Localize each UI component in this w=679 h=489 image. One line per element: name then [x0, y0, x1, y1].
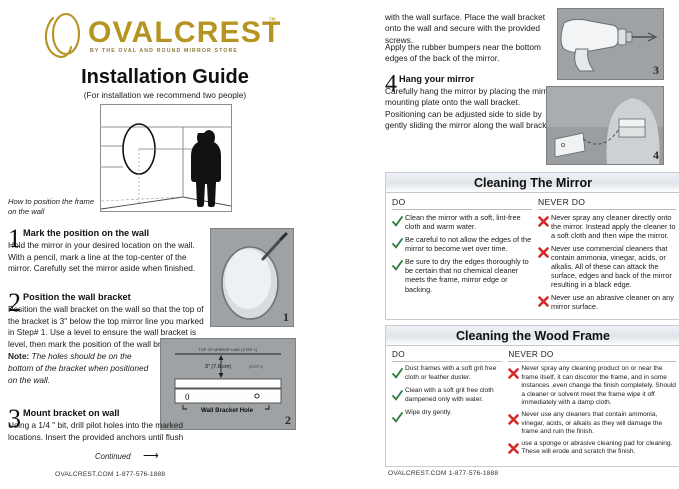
never-item-text: Never use any cleaners that contain ammo…	[521, 411, 676, 437]
cleaning-mirror-do-column: DO Clean the mirror with a soft, lint-fr…	[386, 197, 536, 315]
never-item-text: Never use commercial cleaners that conta…	[551, 244, 676, 290]
do-item-text: Wipe dry gently.	[405, 409, 452, 428]
never-item-text: Never spray any cleaner directly onto th…	[551, 213, 676, 241]
cleaning-frame-header: Cleaning the Wood Frame	[386, 326, 679, 346]
do-item: Dust frames with a soft grit free cloth …	[392, 365, 502, 384]
never-column-divider	[538, 209, 676, 210]
step-1-body: Hold the mirror in your desired location…	[8, 240, 204, 275]
step-3-heading: Mount bracket on wall	[23, 408, 208, 419]
do-item-text: Be careful to not allow the edges of the…	[405, 235, 532, 254]
never-item-text: Never use an abrasive cleaner on any mir…	[551, 293, 676, 312]
never-item: Never use an abrasive cleaner on any mir…	[538, 293, 676, 312]
svg-text:3" (7.6 cm): 3" (7.6 cm)	[205, 364, 231, 370]
panel-2-number: 2	[285, 413, 291, 428]
never-item: Never spray any cleaner directly onto th…	[538, 213, 676, 241]
check-icon	[392, 409, 405, 428]
footer-right: OVALCREST.COM 1-877-576-1888	[388, 470, 498, 477]
svg-text:Wall Bracket Hole: Wall Bracket Hole	[201, 407, 254, 414]
cross-icon	[508, 365, 521, 408]
step-2-number: 2	[8, 290, 21, 316]
continued-paragraph-2: Apply the rubber bumpers near the bottom…	[385, 42, 560, 65]
logo-wordmark: OVALCREST	[88, 16, 282, 50]
cleaning-mirror-never-column: NEVER DO Never spray any cleaner directl…	[536, 197, 679, 315]
right-column: with the wall surface. Place the wall br…	[385, 0, 679, 489]
never-item: Never use commercial cleaners that conta…	[538, 244, 676, 290]
panel-1-number: 1	[283, 310, 289, 325]
power-drill-icon	[558, 9, 663, 79]
wall-position-diagram	[100, 104, 232, 212]
do-item: Clean the mirror with a soft, lint-free …	[392, 213, 532, 232]
step-4-number: 4	[385, 72, 397, 96]
brand-tagline: BY THE OVAL AND ROUND MIRROR STORE	[90, 48, 238, 54]
left-column: OVALCREST ™ BY THE OVAL AND ROUND MIRROR…	[0, 0, 375, 489]
cross-icon	[538, 244, 551, 290]
page-title: Installation Guide	[0, 66, 330, 89]
check-icon	[392, 213, 405, 232]
step-2-note: Note: The holes should be on the bottom …	[8, 351, 158, 386]
step-2-note-label: Note:	[8, 351, 29, 361]
check-icon	[392, 235, 405, 254]
do-column-divider	[392, 361, 502, 362]
do-item: Clean with a soft grit free cloth dampen…	[392, 387, 502, 406]
cross-icon	[538, 293, 551, 312]
step-4-heading: Hang your mirror	[399, 74, 563, 85]
continued-label: Continued	[95, 452, 131, 461]
do-item-text: Dust frames with a soft grit free cloth …	[405, 365, 502, 384]
brand-logo: OVALCREST ™ BY THE OVAL AND ROUND MIRROR…	[40, 14, 290, 60]
cleaning-frame-never-heading: NEVER DO	[508, 350, 676, 361]
check-icon	[392, 257, 405, 294]
do-item: Be sure to dry the edges thoroughly to b…	[392, 257, 532, 294]
arrow-right-icon: ⟶	[143, 452, 159, 461]
page-subtitle: (For installation we recommend two peopl…	[0, 90, 330, 100]
do-item-text: Clean with a soft grit free cloth dampen…	[405, 387, 502, 406]
do-item: Wipe dry gently.	[392, 409, 502, 428]
room-perspective-illustration	[101, 105, 231, 211]
step-2-heading: Position the wall bracket	[23, 292, 208, 303]
cleaning-frame-columns: DO Dust frames with a soft grit free clo…	[386, 346, 679, 466]
cleaning-mirror-header: Cleaning The Mirror	[386, 173, 679, 193]
svg-text:0: 0	[185, 392, 190, 402]
check-icon	[392, 387, 405, 406]
never-item: use a sponge or abrasive cleaning pad fo…	[508, 440, 676, 459]
step-4-body: Carefully hang the mirror by placing the…	[385, 86, 563, 132]
cleaning-frame-never-column: NEVER DO Never spray any cleaning produc…	[506, 350, 679, 462]
step-1: 1 Mark the position on the wall Hold the…	[8, 228, 204, 275]
never-item-text: Never spray any cleaning product on or n…	[521, 365, 676, 408]
cleaning-mirror-columns: DO Clean the mirror with a soft, lint-fr…	[386, 193, 679, 319]
trademark-symbol: ™	[268, 16, 276, 25]
never-column-divider	[508, 361, 676, 362]
installation-guide-page: OVALCREST ™ BY THE OVAL AND ROUND MIRROR…	[0, 0, 679, 489]
cleaning-mirror-never-heading: NEVER DO	[538, 197, 676, 209]
step-1-number: 1	[8, 226, 21, 252]
cleaning-frame-do-heading: DO	[392, 350, 502, 361]
step-3-body: Using a 1/4 " bit, drill pilot holes int…	[8, 420, 208, 443]
cross-icon	[538, 213, 551, 241]
panel-4-mounting-plate-photo: 4	[546, 86, 664, 165]
never-item: Never use any cleaners that contain ammo…	[508, 411, 676, 437]
panel-3-drill-photo: 3	[557, 8, 664, 80]
cleaning-frame-title: Cleaning the Wood Frame	[456, 329, 610, 343]
oval-mirror-with-pencil-icon	[211, 229, 293, 326]
step-1-heading: Mark the position on the wall	[23, 228, 204, 239]
cross-icon	[508, 411, 521, 437]
step-2-note-text: The holes should be on the bottom of the…	[8, 351, 148, 384]
panel-4-number: 4	[653, 148, 659, 163]
cleaning-frame-card: Cleaning the Wood Frame DO Dust frames w…	[385, 325, 679, 467]
svg-text:TOP OF MIRROR LINE (STEP 1): TOP OF MIRROR LINE (STEP 1)	[199, 348, 258, 352]
cross-icon	[508, 440, 521, 459]
cleaning-frame-do-column: DO Dust frames with a soft grit free clo…	[386, 350, 506, 462]
panel-1-mirror-photo: 1	[210, 228, 294, 327]
do-column-divider	[392, 209, 532, 210]
check-icon	[392, 365, 405, 384]
cleaning-mirror-title: Cleaning The Mirror	[474, 176, 592, 190]
wall-diagram-caption: How to position the frame on the wall	[8, 197, 96, 218]
svg-text:(STEP 2): (STEP 2)	[249, 365, 263, 369]
do-item: Be careful to not allow the edges of the…	[392, 235, 532, 254]
do-item-text: Be sure to dry the edges thoroughly to b…	[405, 257, 532, 294]
mirror-mounting-plate-icon	[547, 87, 663, 164]
cleaning-mirror-card: Cleaning The Mirror DO Clean the mirror …	[385, 172, 679, 320]
never-item-text: use a sponge or abrasive cleaning pad fo…	[521, 440, 676, 459]
step-4: 4 Hang your mirror Carefully hang the mi…	[385, 74, 563, 132]
do-item-text: Clean the mirror with a soft, lint-free …	[405, 213, 532, 232]
cleaning-mirror-do-heading: DO	[392, 197, 532, 209]
panel-3-number: 3	[653, 63, 659, 78]
step-3: 3 Mount bracket on wall Using a 1/4 " bi…	[8, 408, 208, 443]
never-item: Never spray any cleaning product on or n…	[508, 365, 676, 408]
footer-left: OVALCREST.COM 1-877-576-1888	[55, 471, 165, 478]
step-3-number: 3	[8, 406, 21, 432]
